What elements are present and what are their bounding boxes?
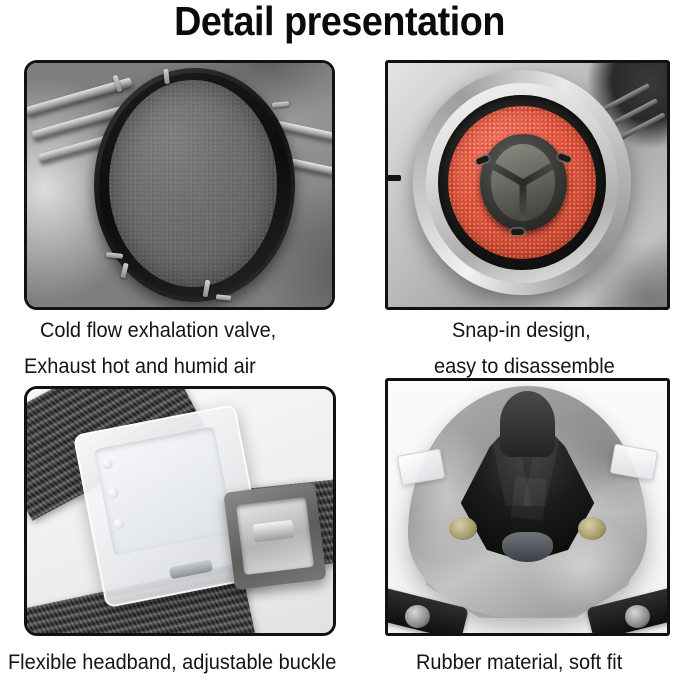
- caption-panel-1-line-1: Cold flow exhalation valve,: [40, 316, 276, 346]
- panel-rubber-material: [385, 378, 670, 636]
- nose-bridge-area: [500, 391, 556, 457]
- snap-in-port-photo: [388, 63, 667, 307]
- valve-diaphragm-disc: [109, 80, 277, 287]
- bayonet-lug: [511, 229, 524, 235]
- bore-spoke: [491, 160, 525, 186]
- bore-spoke: [520, 183, 527, 221]
- panel-flexible-headband: [24, 386, 336, 636]
- bayonet-bore: [491, 144, 555, 220]
- exhalation-valve-photo: [27, 63, 332, 307]
- headband-buckle-photo: [27, 389, 333, 633]
- strap-buckle-left: [405, 605, 430, 628]
- panel-snap-in-design: [385, 60, 670, 310]
- bayonet-collar: [480, 134, 566, 232]
- mask-interior-photo: [388, 381, 667, 633]
- caption-panel-4: Rubber material, soft fit: [416, 648, 622, 678]
- bore-spoke: [522, 160, 556, 186]
- adjuster-bar: [252, 519, 294, 542]
- detail-presentation-page: Detail presentation Cold flow exhalation…: [0, 0, 679, 691]
- caption-panel-1-line-2: Exhaust hot and humid air: [24, 352, 256, 382]
- edge-tab: [388, 175, 401, 181]
- valve-retaining-tab: [216, 294, 231, 301]
- caption-panel-2-line-1: Snap-in design,: [452, 316, 591, 346]
- gray-adjuster-buckle: [223, 481, 326, 589]
- caption-panel-3: Flexible headband, adjustable buckle: [8, 648, 336, 678]
- exhalation-valve-housing: [502, 532, 552, 562]
- inhalation-valve-left: [449, 517, 477, 540]
- panel-cold-flow-exhalation-valve: [24, 60, 335, 310]
- adjuster-window: [236, 496, 314, 574]
- buckle-slot: [169, 559, 214, 579]
- page-title: Detail presentation: [27, 0, 652, 44]
- inhalation-valve-right: [578, 517, 606, 540]
